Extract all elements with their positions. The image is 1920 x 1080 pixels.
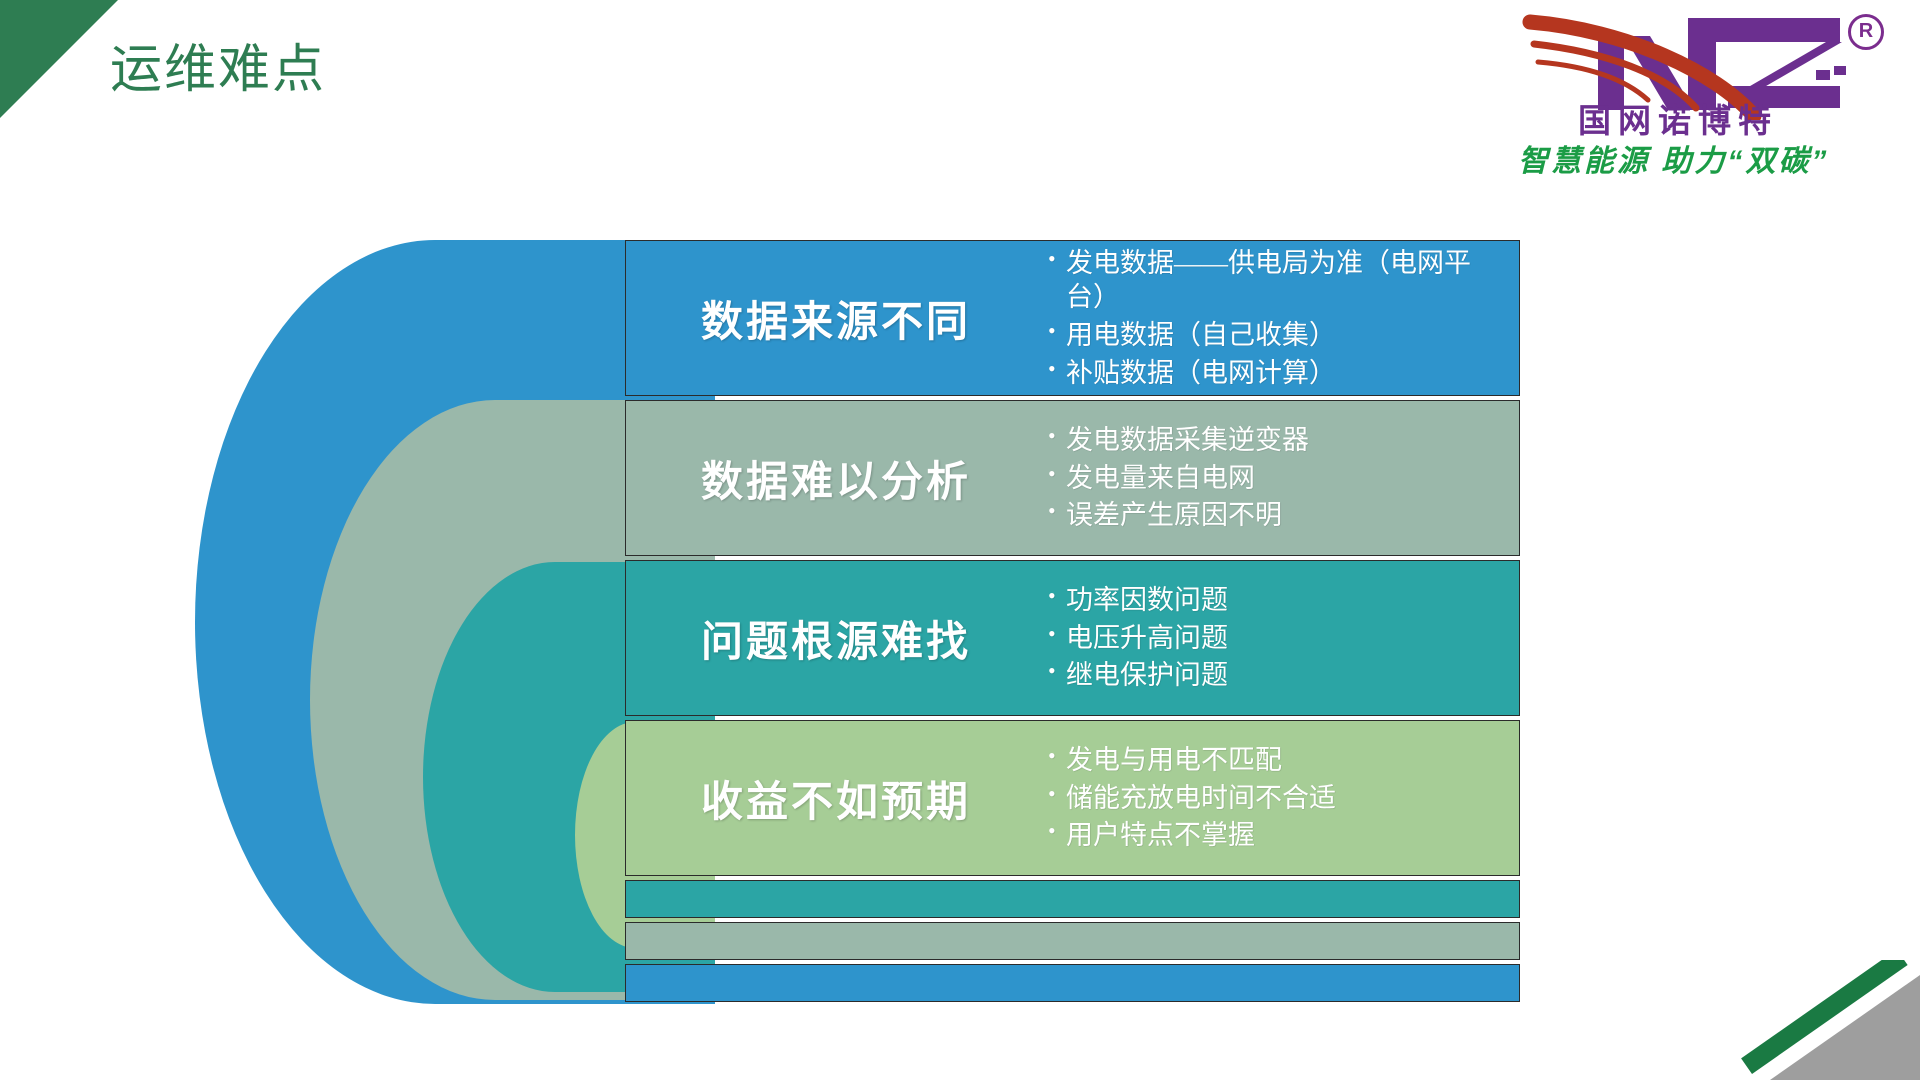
- bullet-item: 补贴数据（电网计算）: [1046, 356, 1497, 391]
- bullet-item: 发电数据——供电局为准（电网平台）: [1046, 246, 1497, 315]
- corner-decoration-bottom-right: [1730, 960, 1920, 1080]
- footer-band-3: [625, 964, 1520, 1002]
- bullet-item: 储能充放电时间不合适: [1046, 781, 1497, 816]
- band-bullets-2: 发电数据采集逆变器 发电量来自电网 误差产生原因不明: [1046, 420, 1519, 536]
- band-stack: 数据来源不同 发电数据——供电局为准（电网平台） 用电数据（自己收集） 补贴数据…: [625, 240, 1520, 1006]
- logo-slogan: 智慧能源 助力“双碳”: [1518, 136, 1829, 180]
- logo-brand-name: 国网诺博特: [1578, 94, 1778, 142]
- bullet-item: 误差产生原因不明: [1046, 498, 1497, 533]
- band-bullets-1: 发电数据——供电局为准（电网平台） 用电数据（自己收集） 补贴数据（电网计算）: [1046, 243, 1519, 393]
- bullet-item: 用电数据（自己收集）: [1046, 318, 1497, 353]
- company-logo: R 国网诺博特 智慧能源 助力“双碳”: [1516, 8, 1888, 186]
- bullet-item: 用户特点不掌握: [1046, 818, 1497, 853]
- band-row-4[interactable]: 收益不如预期 发电与用电不匹配 储能充放电时间不合适 用户特点不掌握: [625, 720, 1520, 876]
- bullet-item: 继电保护问题: [1046, 658, 1497, 693]
- band-row-1[interactable]: 数据来源不同 发电数据——供电局为准（电网平台） 用电数据（自己收集） 补贴数据…: [625, 240, 1520, 396]
- band-title-1: 数据来源不同: [626, 288, 1046, 349]
- band-bullets-4: 发电与用电不匹配 储能充放电时间不合适 用户特点不掌握: [1046, 740, 1519, 856]
- footer-band-1: [625, 880, 1520, 918]
- page-title: 运维难点: [110, 42, 326, 99]
- band-row-2[interactable]: 数据难以分析 发电数据采集逆变器 发电量来自电网 误差产生原因不明: [625, 400, 1520, 556]
- bullet-item: 发电量来自电网: [1046, 461, 1497, 496]
- bullet-item: 功率因数问题: [1046, 583, 1497, 618]
- bullet-item: 发电与用电不匹配: [1046, 743, 1497, 778]
- footer-band-2: [625, 922, 1520, 960]
- bullet-item: 发电数据采集逆变器: [1046, 423, 1497, 458]
- bullet-item: 电压升高问题: [1046, 621, 1497, 656]
- registered-trademark-icon: R: [1848, 14, 1884, 50]
- band-title-4: 收益不如预期: [626, 768, 1046, 829]
- band-title-2: 数据难以分析: [626, 448, 1046, 509]
- nested-arc-diagram: 数据来源不同 发电数据——供电局为准（电网平台） 用电数据（自己收集） 补贴数据…: [195, 232, 1535, 1022]
- band-title-3: 问题根源难找: [626, 608, 1046, 669]
- band-row-3[interactable]: 问题根源难找 功率因数问题 电压升高问题 继电保护问题: [625, 560, 1520, 716]
- corner-decoration-top-left: [0, 0, 118, 118]
- band-bullets-3: 功率因数问题 电压升高问题 继电保护问题: [1046, 580, 1519, 696]
